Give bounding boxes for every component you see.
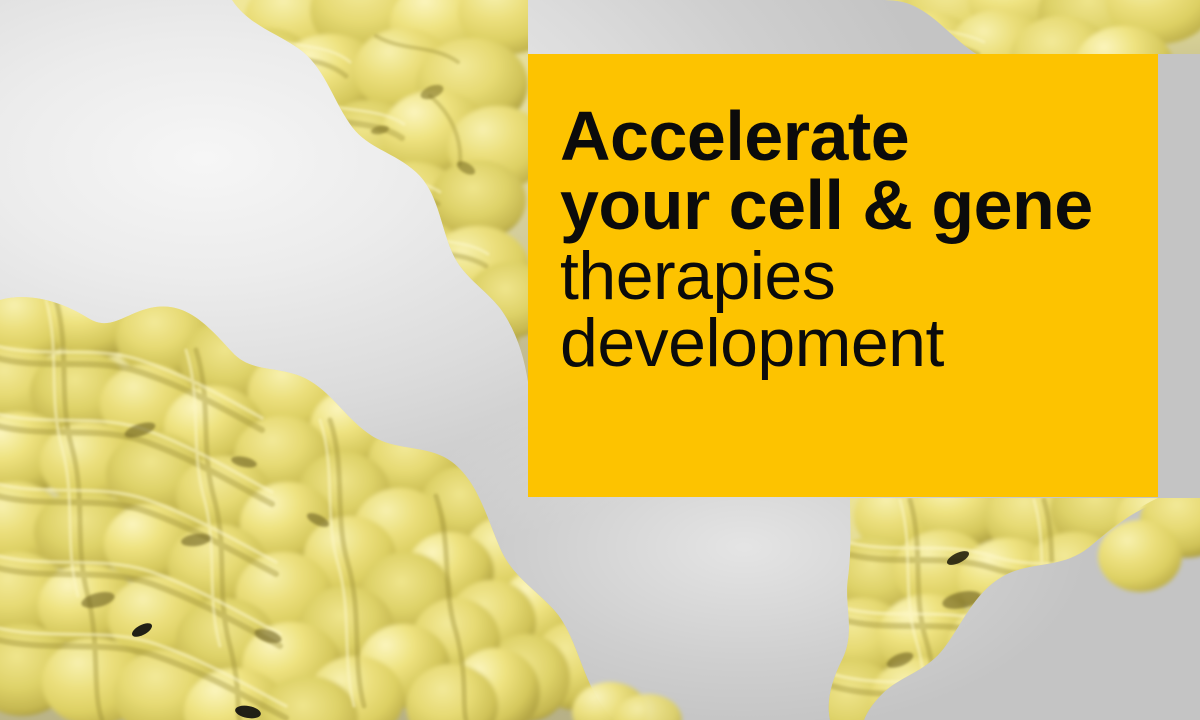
headline-line-2: your cell & gene <box>560 171 1118 240</box>
headline-callout-box: Accelerate your cell & gene therapies de… <box>528 54 1158 497</box>
headline-line-4: development <box>560 310 1118 377</box>
headline-line-3: therapies <box>560 243 1118 310</box>
promo-banner: Accelerate your cell & gene therapies de… <box>0 0 1200 720</box>
protein-mass-right <box>802 468 1200 720</box>
protein-detail-blobs <box>572 682 682 720</box>
page-title: Accelerate your cell & gene therapies de… <box>560 102 1118 376</box>
headline-line-1: Accelerate <box>560 102 1118 171</box>
